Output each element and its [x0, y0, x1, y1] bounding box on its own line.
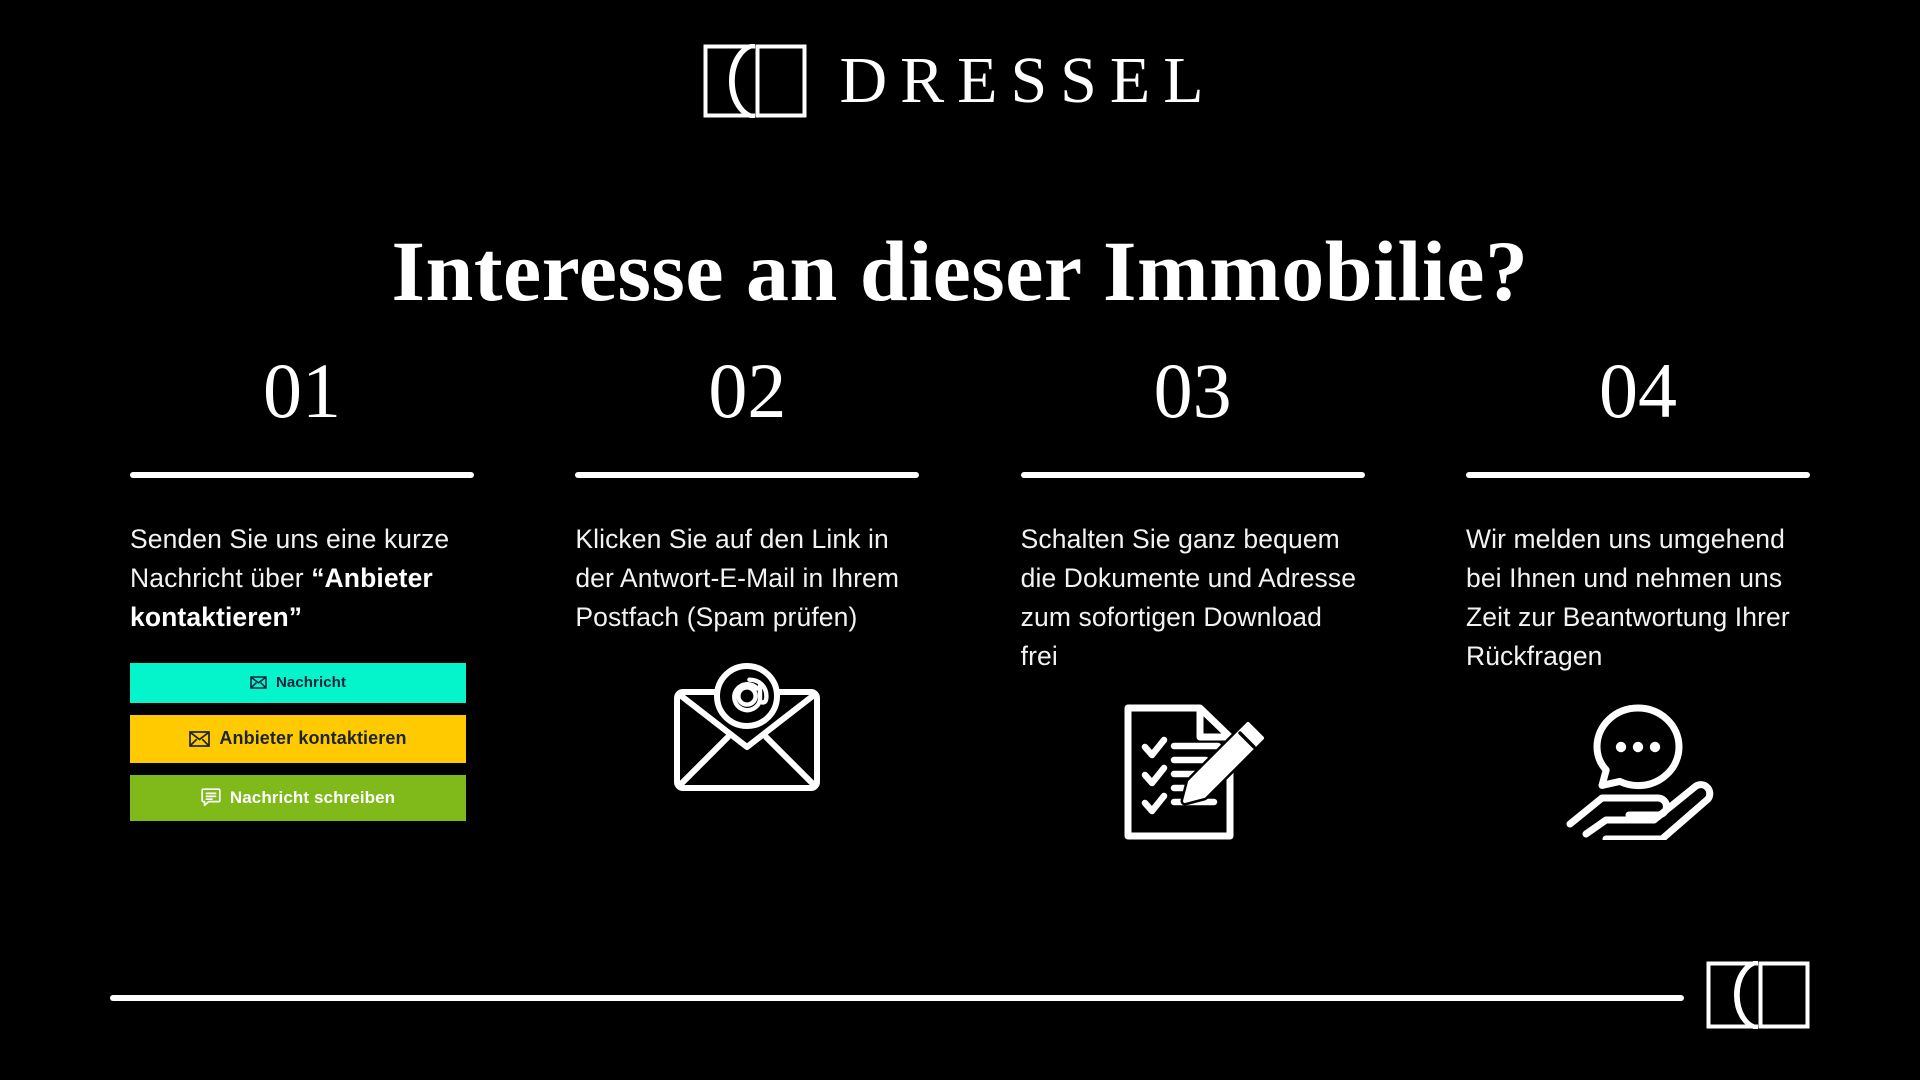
step-divider	[1021, 472, 1365, 478]
dressel-monogram-icon	[1706, 961, 1810, 1034]
envelope-at-icon	[672, 663, 822, 800]
step-number: 03	[1021, 352, 1365, 438]
envelope-icon	[189, 731, 210, 747]
step-visual: Nachricht Anbieter kontaktieren	[130, 663, 474, 863]
step-card-03: 03 Schalten Sie ganz bequem die Dokument…	[1021, 352, 1365, 902]
chat-in-hand-icon	[1562, 702, 1714, 845]
nachricht-schreiben-button-label: Nachricht schreiben	[230, 788, 395, 808]
anbieter-kontaktieren-button-label: Anbieter kontaktieren	[219, 728, 406, 749]
brand-header: DRESSEL	[0, 44, 1920, 118]
step-visual	[1466, 702, 1810, 902]
step-card-01: 01 Senden Sie uns eine kurze Nachricht ü…	[130, 352, 474, 902]
nachricht-button[interactable]: Nachricht	[130, 663, 466, 703]
contact-buttons-stack: Nachricht Anbieter kontaktieren	[130, 663, 466, 821]
step-card-02: 02 Klicken Sie auf den Link in der Antwo…	[575, 352, 919, 902]
steps-row: 01 Senden Sie uns eine kurze Nachricht ü…	[130, 352, 1810, 902]
nachricht-button-label: Nachricht	[276, 674, 346, 691]
step-number: 02	[575, 352, 919, 438]
step-divider	[130, 472, 474, 478]
step-visual	[1021, 702, 1365, 902]
dressel-monogram-icon	[703, 44, 807, 118]
anbieter-kontaktieren-button[interactable]: Anbieter kontaktieren	[130, 715, 466, 763]
step-description: Schalten Sie ganz bequem die Dokumente u…	[1021, 520, 1365, 676]
step-divider	[575, 472, 919, 478]
footer-divider	[110, 995, 1684, 1001]
step-description: Wir melden uns umgehend bei Ihnen und ne…	[1466, 520, 1810, 676]
step-card-04: 04 Wir melden uns umgehend bei Ihnen und…	[1466, 352, 1810, 902]
step-divider	[1466, 472, 1810, 478]
step-description: Klicken Sie auf den Link in der Antwort-…	[575, 520, 919, 637]
step-number: 04	[1466, 352, 1810, 438]
step-description: Senden Sie uns eine kurze Nachricht über…	[130, 520, 474, 637]
checklist-pen-icon	[1120, 702, 1266, 847]
nachricht-schreiben-button[interactable]: Nachricht schreiben	[130, 775, 466, 821]
step-number: 01	[130, 352, 474, 438]
brand-wordmark: DRESSEL	[833, 48, 1216, 114]
step-visual	[575, 663, 919, 863]
footer	[110, 961, 1810, 1034]
envelope-icon	[250, 676, 267, 689]
page-title: Interesse an dieser Immobilie?	[0, 226, 1920, 316]
message-lines-icon	[201, 788, 221, 807]
